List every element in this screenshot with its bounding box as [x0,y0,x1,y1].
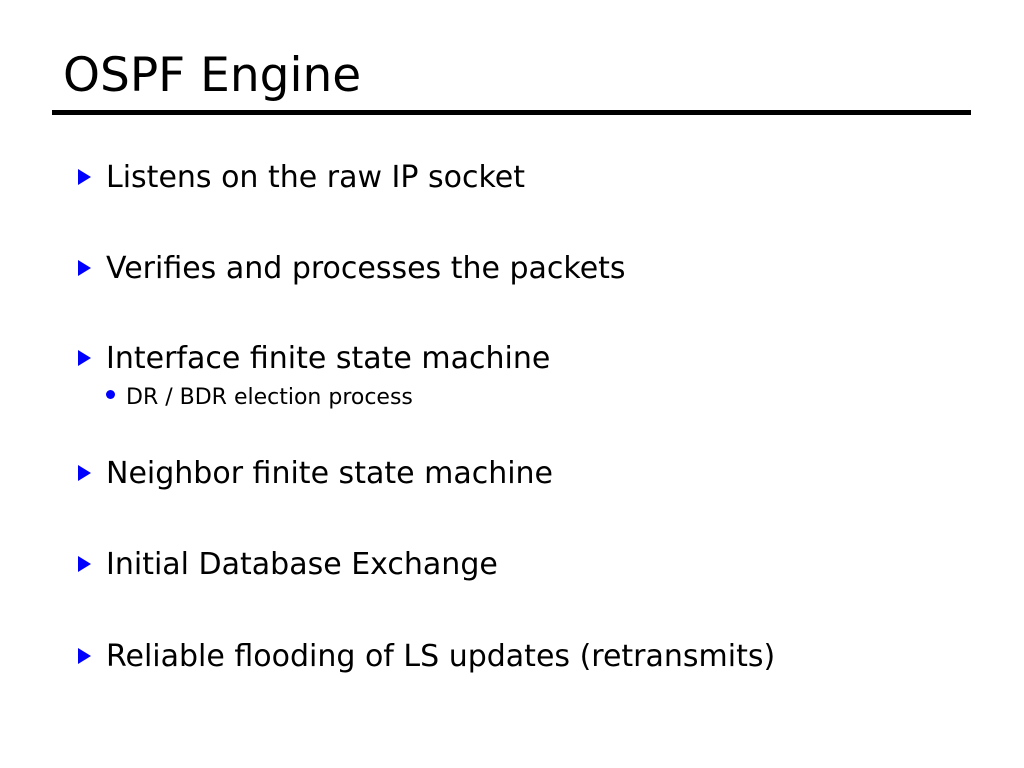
bullet-item: Verifies and processes the packets [78,252,626,286]
triangle-right-icon [78,465,91,481]
dot-icon [106,390,115,399]
triangle-right-icon [78,260,91,276]
presentation-slide: OSPF Engine Listens on the raw IP socket… [0,0,1024,768]
bullet-label: Verifies and processes the packets [106,252,626,286]
bullet-item: Initial Database Exchange [78,548,498,582]
sub-bullet-label: DR / BDR election process [126,385,413,411]
triangle-right-icon [78,350,91,366]
page-title: OSPF Engine [52,46,972,106]
bullet-item: Interface finite state machine [78,342,550,376]
triangle-right-icon [78,169,91,185]
bullet-item: Reliable flooding of LS updates (retrans… [78,640,775,674]
bullet-label: Interface finite state machine [106,342,550,376]
triangle-right-icon [78,556,91,572]
bullet-label: Initial Database Exchange [106,548,498,582]
bullet-item: Neighbor finite state machine [78,457,553,491]
bullet-item: Listens on the raw IP socket [78,161,525,195]
sub-bullet-item: DR / BDR election process [106,385,413,411]
triangle-right-icon [78,648,91,664]
bullet-label: Reliable flooding of LS updates (retrans… [106,640,775,674]
title-underline-divider [52,110,971,115]
bullet-label: Listens on the raw IP socket [106,161,525,195]
bullet-label: Neighbor finite state machine [106,457,553,491]
slide-title-block: OSPF Engine [52,46,972,106]
